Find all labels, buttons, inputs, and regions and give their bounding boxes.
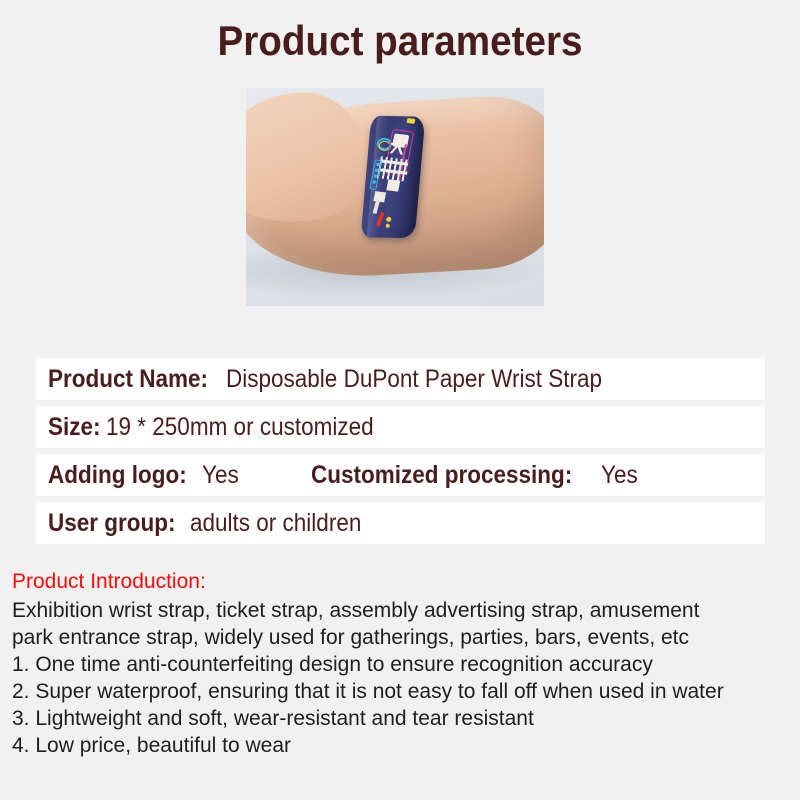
strap-art-yellow-tab	[407, 118, 416, 124]
spec-label: Size:	[48, 413, 101, 442]
introduction-line: Exhibition wrist strap, ticket strap, as…	[12, 597, 800, 624]
spec-cell-size: Size: 19 * 250mm or customized	[48, 413, 404, 442]
introduction-heading: Product Introduction:	[12, 568, 800, 595]
product-image	[246, 88, 544, 306]
spec-cell-product-name: Product Name: Disposable DuPont Paper Wr…	[48, 365, 644, 394]
introduction-line: 1. One time anti-counterfeiting design t…	[12, 651, 800, 678]
spec-value: adults or children	[190, 509, 361, 538]
spec-value: Yes	[601, 461, 638, 490]
spec-value: 19 * 250mm or customized	[106, 413, 374, 442]
spec-cell-user-group: User group: adults or children	[48, 509, 380, 538]
introduction-line: 2. Super waterproof, ensuring that it is…	[12, 678, 800, 705]
spec-label: Adding logo:	[48, 461, 187, 490]
table-row: User group: adults or children	[36, 502, 765, 544]
spec-cell-customized-processing: Customized processing: Yes	[311, 461, 642, 490]
strap-art-white-block-2	[386, 179, 400, 191]
product-introduction: Product Introduction: Exhibition wrist s…	[12, 568, 800, 759]
strap-art-yellow-dot-1	[386, 217, 391, 222]
specification-table: Product Name: Disposable DuPont Paper Wr…	[36, 358, 765, 550]
spec-value: Disposable DuPont Paper Wrist Strap	[226, 365, 602, 394]
spec-value: Yes	[202, 461, 239, 490]
spec-label: User group:	[48, 509, 176, 538]
product-photo-backdrop	[246, 88, 544, 306]
strap-art-yellow-dot-2	[386, 224, 390, 228]
table-row: Adding logo: Yes Customized processing: …	[36, 454, 765, 496]
introduction-line: 3. Lightweight and soft, wear-resistant …	[12, 705, 800, 732]
page-title: Product parameters	[32, 0, 768, 62]
spec-label: Product Name:	[48, 365, 208, 394]
introduction-line: 4. Low price, beautiful to wear	[12, 732, 800, 759]
table-row: Product Name: Disposable DuPont Paper Wr…	[36, 358, 765, 400]
introduction-line: park entrance strap, widely used for gat…	[12, 624, 800, 651]
table-row: Size: 19 * 250mm or customized	[36, 406, 765, 448]
wrist-strap	[361, 116, 426, 238]
spec-cell-adding-logo: Adding logo: Yes	[48, 461, 243, 490]
spec-label: Customized processing:	[311, 461, 572, 490]
